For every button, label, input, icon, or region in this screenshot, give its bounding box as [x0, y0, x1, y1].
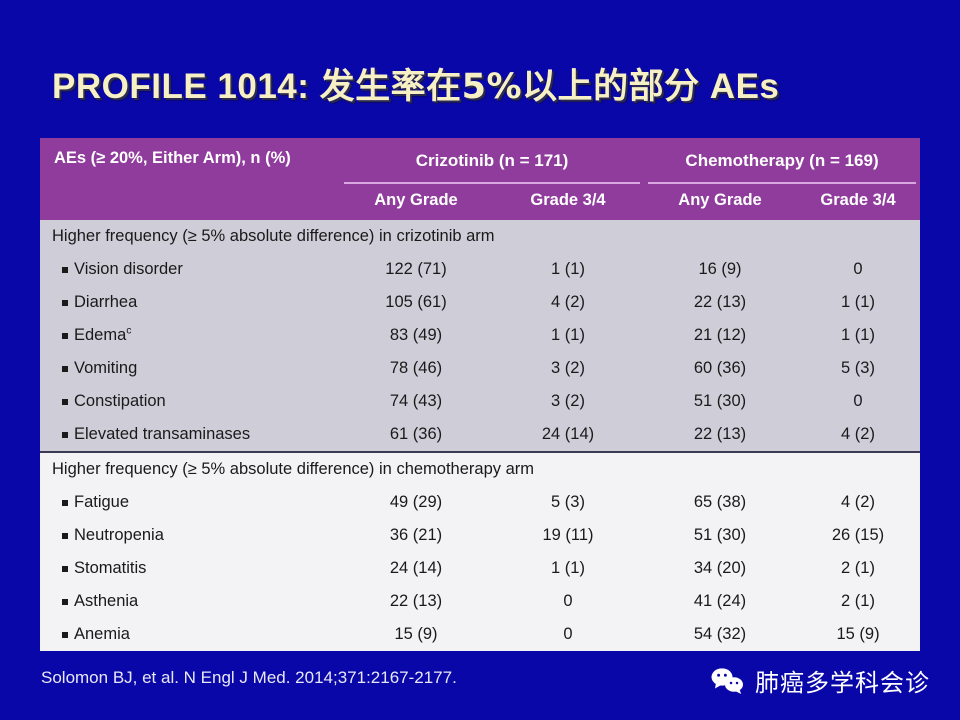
table-row: Vision disorder 122 (71) 1 (1) 16 (9) 0 — [40, 253, 920, 286]
bullet-icon — [62, 300, 68, 306]
bullet-icon — [62, 366, 68, 372]
column-group-chemotherapy-label: Chemotherapy (n = 169) — [685, 151, 878, 170]
cell-chemotherapy-any-grade: 54 (32) — [644, 618, 796, 651]
row-label-text: Fatigue — [74, 493, 129, 511]
cell-crizotinib-any-grade: 15 (9) — [340, 618, 492, 651]
table-row: Asthenia 22 (13) 0 41 (24) 2 (1) — [40, 585, 920, 618]
cell-crizotinib-any-grade: 122 (71) — [340, 253, 492, 286]
wechat-badge: 肺癌多学科会诊 — [711, 663, 930, 698]
cell-chemotherapy-grade-34: 2 (1) — [796, 585, 920, 618]
aes-table: AEs (≥ 20%, Either Arm), n (%) Crizotini… — [40, 138, 920, 651]
column-header-chemotherapy-any-grade: Any Grade — [644, 184, 796, 220]
cell-crizotinib-any-grade: 24 (14) — [340, 552, 492, 585]
table-row: Stomatitis 24 (14) 1 (1) 34 (20) 2 (1) — [40, 552, 920, 585]
cell-chemotherapy-any-grade: 51 (30) — [644, 385, 796, 418]
table-row: Constipation 74 (43) 3 (2) 51 (30) 0 — [40, 385, 920, 418]
row-label-text: Vision disorder — [74, 260, 183, 278]
row-label: Diarrhea — [40, 286, 340, 319]
row-label-text: Constipation — [74, 392, 166, 410]
cell-crizotinib-grade-34: 1 (1) — [492, 319, 644, 352]
table-row: Anemia 15 (9) 0 54 (32) 15 (9) — [40, 618, 920, 651]
row-label-text: Edema — [74, 326, 126, 344]
table-row: Fatigue 49 (29) 5 (3) 65 (38) 4 (2) — [40, 486, 920, 519]
citation: Solomon BJ, et al. N Engl J Med. 2014;37… — [41, 668, 457, 688]
column-header-aes: AEs (≥ 20%, Either Arm), n (%) — [40, 138, 340, 220]
row-label: Anemia — [40, 618, 340, 651]
bullet-icon — [62, 399, 68, 405]
footnote-marker: c — [126, 325, 131, 337]
page-title-suffix: AEs — [700, 67, 780, 106]
cell-crizotinib-grade-34: 1 (1) — [492, 253, 644, 286]
cell-chemotherapy-any-grade: 34 (20) — [644, 552, 796, 585]
row-label: Stomatitis — [40, 552, 340, 585]
bullet-icon — [62, 267, 68, 273]
row-label: Asthenia — [40, 585, 340, 618]
column-group-chemotherapy: Chemotherapy (n = 169) — [644, 138, 920, 184]
table-row: Vomiting 78 (46) 3 (2) 60 (36) 5 (3) — [40, 352, 920, 385]
cell-chemotherapy-grade-34: 4 (2) — [796, 486, 920, 519]
table-body: Higher frequency (≥ 5% absolute differen… — [40, 220, 920, 651]
column-header-crizotinib-any-grade: Any Grade — [340, 184, 492, 220]
cell-crizotinib-any-grade: 36 (21) — [340, 519, 492, 552]
row-label-text: Stomatitis — [74, 559, 146, 577]
cell-crizotinib-grade-34: 3 (2) — [492, 385, 644, 418]
cell-crizotinib-any-grade: 83 (49) — [340, 319, 492, 352]
section-heading-row: Higher frequency (≥ 5% absolute differen… — [40, 220, 920, 253]
section-heading-chemotherapy: Higher frequency (≥ 5% absolute differen… — [40, 453, 920, 486]
cell-crizotinib-any-grade: 105 (61) — [340, 286, 492, 319]
cell-crizotinib-any-grade: 74 (43) — [340, 385, 492, 418]
page-title-prefix: PROFILE 1014: — [52, 67, 320, 106]
cell-crizotinib-grade-34: 0 — [492, 585, 644, 618]
table-row: Elevated transaminases 61 (36) 24 (14) 2… — [40, 418, 920, 451]
cell-chemotherapy-grade-34: 15 (9) — [796, 618, 920, 651]
column-group-crizotinib-label: Crizotinib (n = 171) — [416, 151, 569, 170]
bullet-icon — [62, 533, 68, 539]
row-label-text: Diarrhea — [74, 293, 137, 311]
aes-table-container: AEs (≥ 20%, Either Arm), n (%) Crizotini… — [40, 138, 920, 651]
section-heading-row: Higher frequency (≥ 5% absolute differen… — [40, 453, 920, 486]
bullet-icon — [62, 566, 68, 572]
row-label: Constipation — [40, 385, 340, 418]
bullet-icon — [62, 599, 68, 605]
cell-chemotherapy-any-grade: 16 (9) — [644, 253, 796, 286]
cell-crizotinib-grade-34: 1 (1) — [492, 552, 644, 585]
bullet-icon — [62, 500, 68, 506]
row-label: Neutropenia — [40, 519, 340, 552]
cell-crizotinib-grade-34: 24 (14) — [492, 418, 644, 451]
cell-chemotherapy-any-grade: 65 (38) — [644, 486, 796, 519]
wechat-badge-label: 肺癌多学科会诊 — [755, 663, 930, 698]
row-label: Vomiting — [40, 352, 340, 385]
cell-chemotherapy-grade-34: 26 (15) — [796, 519, 920, 552]
row-label-text: Asthenia — [74, 592, 138, 610]
cell-crizotinib-any-grade: 49 (29) — [340, 486, 492, 519]
cell-chemotherapy-grade-34: 1 (1) — [796, 286, 920, 319]
cell-crizotinib-grade-34: 19 (11) — [492, 519, 644, 552]
cell-chemotherapy-any-grade: 51 (30) — [644, 519, 796, 552]
page-title: PROFILE 1014: 发生率在5%以上的部分 AEs — [52, 58, 779, 109]
cell-chemotherapy-grade-34: 5 (3) — [796, 352, 920, 385]
table-row: Diarrhea 105 (61) 4 (2) 22 (13) 1 (1) — [40, 286, 920, 319]
cell-crizotinib-any-grade: 22 (13) — [340, 585, 492, 618]
table-row: Neutropenia 36 (21) 19 (11) 51 (30) 26 (… — [40, 519, 920, 552]
cell-crizotinib-grade-34: 0 — [492, 618, 644, 651]
column-header-crizotinib-grade-34: Grade 3/4 — [492, 184, 644, 220]
row-label: Edemac — [40, 319, 340, 352]
cell-chemotherapy-any-grade: 60 (36) — [644, 352, 796, 385]
cell-chemotherapy-any-grade: 22 (13) — [644, 286, 796, 319]
row-label: Fatigue — [40, 486, 340, 519]
row-label: Vision disorder — [40, 253, 340, 286]
section-heading-crizotinib: Higher frequency (≥ 5% absolute differen… — [40, 220, 920, 253]
cell-chemotherapy-grade-34: 2 (1) — [796, 552, 920, 585]
table-header-group-row: AEs (≥ 20%, Either Arm), n (%) Crizotini… — [40, 138, 920, 184]
table-header: AEs (≥ 20%, Either Arm), n (%) Crizotini… — [40, 138, 920, 220]
table-row: Edemac 83 (49) 1 (1) 21 (12) 1 (1) — [40, 319, 920, 352]
cell-chemotherapy-any-grade: 22 (13) — [644, 418, 796, 451]
cell-crizotinib-grade-34: 4 (2) — [492, 286, 644, 319]
page-title-chinese: 发生率在5%以上的部分 — [320, 67, 700, 107]
bullet-icon — [62, 333, 68, 339]
column-group-crizotinib: Crizotinib (n = 171) — [340, 138, 644, 184]
cell-chemotherapy-grade-34: 0 — [796, 385, 920, 418]
row-label-text: Elevated transaminases — [74, 425, 250, 443]
cell-crizotinib-grade-34: 3 (2) — [492, 352, 644, 385]
cell-chemotherapy-grade-34: 4 (2) — [796, 418, 920, 451]
group-underline-crizotinib — [344, 182, 640, 184]
wechat-icon — [711, 667, 745, 695]
row-label-text: Anemia — [74, 625, 130, 643]
bullet-icon — [62, 432, 68, 438]
column-header-chemotherapy-grade-34: Grade 3/4 — [796, 184, 920, 220]
bullet-icon — [62, 632, 68, 638]
row-label-text: Neutropenia — [74, 526, 164, 544]
cell-chemotherapy-grade-34: 0 — [796, 253, 920, 286]
cell-crizotinib-any-grade: 78 (46) — [340, 352, 492, 385]
cell-crizotinib-grade-34: 5 (3) — [492, 486, 644, 519]
cell-crizotinib-any-grade: 61 (36) — [340, 418, 492, 451]
cell-chemotherapy-grade-34: 1 (1) — [796, 319, 920, 352]
cell-chemotherapy-any-grade: 41 (24) — [644, 585, 796, 618]
row-label-text: Vomiting — [74, 359, 137, 377]
group-underline-chemotherapy — [648, 182, 916, 184]
cell-chemotherapy-any-grade: 21 (12) — [644, 319, 796, 352]
row-label: Elevated transaminases — [40, 418, 340, 451]
